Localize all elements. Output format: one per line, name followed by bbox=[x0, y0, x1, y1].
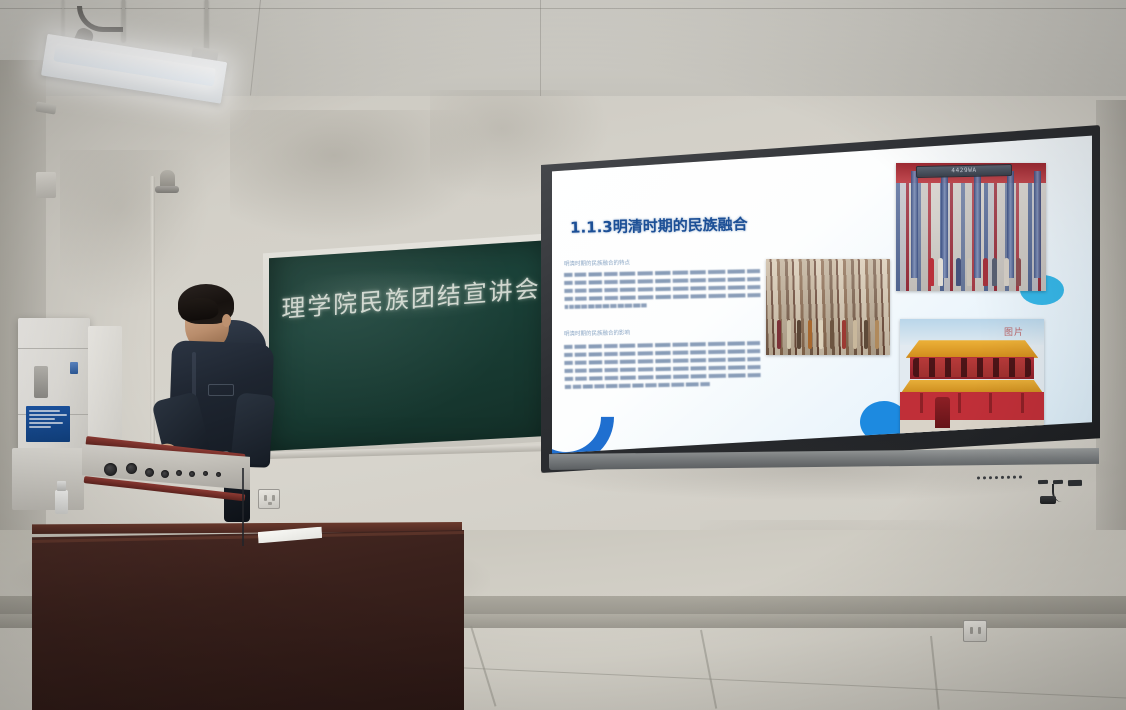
podium-panel-hole[interactable] bbox=[145, 468, 154, 477]
slide-section-1-heading: 明清时期的民族融合的特点 bbox=[564, 258, 630, 267]
wall-sensor-base bbox=[155, 186, 179, 193]
ac-label bbox=[26, 406, 70, 442]
wall-junction-box bbox=[36, 172, 56, 198]
slide-section-2-heading: 明清时期的民族融合的影响 bbox=[564, 328, 630, 337]
slide-image-street-market bbox=[896, 163, 1046, 291]
jacket-chest-pocket bbox=[208, 384, 234, 396]
display-button-icon[interactable] bbox=[995, 476, 998, 479]
podium-panel-hole[interactable] bbox=[161, 470, 169, 478]
slide-paragraph-1 bbox=[564, 269, 761, 313]
display-button-icon[interactable] bbox=[1001, 476, 1004, 479]
display-button-icon[interactable] bbox=[983, 476, 986, 479]
blackboard bbox=[263, 233, 555, 459]
ac-badge-icon bbox=[70, 362, 78, 374]
ear bbox=[222, 314, 231, 327]
display-cable-plug bbox=[1040, 496, 1056, 504]
display-button-icon[interactable] bbox=[977, 476, 980, 479]
podium-side-cabinet bbox=[12, 448, 84, 510]
display-button-icon[interactable] bbox=[1019, 476, 1022, 479]
slide-title: 1.1.3明清时期的民族融合 bbox=[570, 213, 748, 238]
podium-panel-hole[interactable] bbox=[203, 471, 208, 476]
sanitizer-pump-icon[interactable] bbox=[57, 481, 66, 491]
ceiling-seam bbox=[0, 8, 1126, 9]
classroom-scene: 理学院民族团结宣讲会 1.1.3明清时期的民族融合 明清时期的民族融合的特点 明… bbox=[0, 0, 1126, 710]
presentation-slide: 1.1.3明清时期的民族融合 明清时期的民族融合的特点 明清时期的民族融合的影响 bbox=[552, 133, 1092, 458]
podium-cable bbox=[242, 468, 244, 546]
ac-vent-icon bbox=[34, 366, 48, 398]
hand-sanitizer-bottle[interactable] bbox=[55, 490, 68, 514]
display-model-plate: 4429WA bbox=[916, 164, 1012, 178]
air-conditioner-side-panel bbox=[88, 326, 122, 446]
display-button-icon[interactable] bbox=[1007, 476, 1010, 479]
display-screen[interactable]: 1.1.3明清时期的民族融合 明清时期的民族融合的特点 明清时期的民族融合的影响 bbox=[552, 133, 1092, 458]
slide-watermark: 图片 bbox=[1004, 325, 1024, 338]
podium-body bbox=[32, 530, 464, 710]
podium-panel-hole[interactable] bbox=[104, 463, 117, 476]
air-conditioner-unit[interactable] bbox=[18, 318, 90, 450]
podium-panel-hole[interactable] bbox=[189, 471, 195, 477]
display-button-icon[interactable] bbox=[1013, 476, 1016, 479]
podium-panel-hole[interactable] bbox=[126, 463, 137, 474]
podium-panel-hole[interactable] bbox=[176, 470, 182, 476]
slide-image-ethnic-gathering bbox=[766, 259, 890, 355]
wall-power-outlet[interactable] bbox=[963, 620, 987, 642]
display-port[interactable] bbox=[1038, 480, 1048, 484]
display-port[interactable] bbox=[1068, 480, 1082, 486]
podium-panel-hole[interactable] bbox=[216, 472, 221, 477]
display-button-icon[interactable] bbox=[989, 476, 992, 479]
